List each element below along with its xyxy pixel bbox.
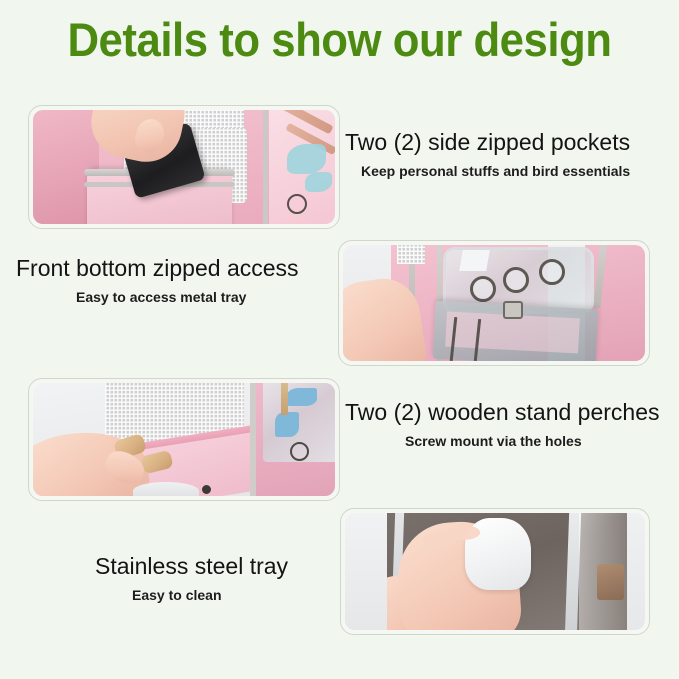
infographic-page: Details to show our design Two (2) side … bbox=[0, 0, 679, 679]
headline-side-zipped-pockets: Two (2) side zipped pockets bbox=[345, 128, 630, 156]
page-title: Details to show our design bbox=[24, 14, 655, 66]
caption-front-bottom-access: Front bottom zipped access Easy to acces… bbox=[16, 254, 299, 307]
subline-stainless-tray: Easy to clean bbox=[132, 585, 288, 605]
headline-stainless-tray: Stainless steel tray bbox=[95, 552, 288, 580]
subline-front-bottom-access: Easy to access metal tray bbox=[76, 287, 299, 307]
stainless-tray-photo bbox=[340, 508, 650, 635]
caption-wooden-perches: Two (2) wooden stand perches Screw mount… bbox=[345, 398, 660, 451]
front-bottom-access-photo bbox=[338, 240, 650, 366]
headline-front-bottom-access: Front bottom zipped access bbox=[16, 254, 299, 282]
headline-wooden-perches: Two (2) wooden stand perches bbox=[345, 398, 660, 426]
caption-side-zipped-pockets: Two (2) side zipped pockets Keep persona… bbox=[345, 128, 630, 181]
subline-wooden-perches: Screw mount via the holes bbox=[405, 431, 660, 451]
wooden-perches-photo bbox=[28, 378, 340, 501]
subline-side-zipped-pockets: Keep personal stuffs and bird essentials bbox=[361, 161, 630, 181]
caption-stainless-tray: Stainless steel tray Easy to clean bbox=[95, 552, 288, 605]
side-zipped-pocket-photo bbox=[28, 105, 340, 229]
